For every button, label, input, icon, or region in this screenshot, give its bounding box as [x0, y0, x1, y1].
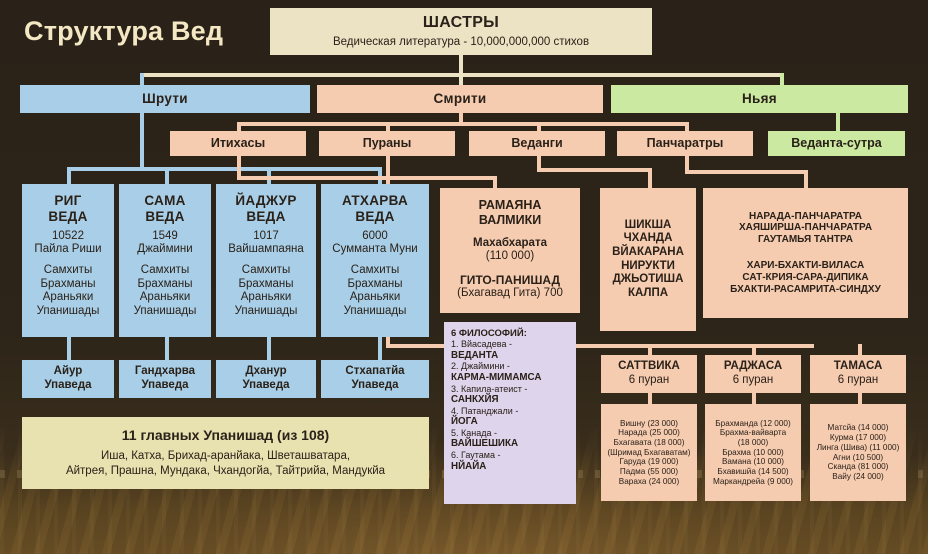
philosophy-author-4: 5. Канада -: [451, 428, 576, 439]
mahabharata-label: Махабхарата: [473, 237, 547, 251]
veda-atharva-sage: Сумманта Муни: [332, 243, 417, 257]
sattvika-purana-0: Вишну (23 000): [620, 419, 678, 429]
rajasa-purana-6: Маркандрейа (9 000): [713, 477, 793, 487]
node-vedanga-limbs[interactable]: ШИКША ЧХАНДА ВЙАКАРАНА НИРУКТИ ДЖЬОТИША …: [600, 188, 696, 331]
upaveda-dhanur-line2: Упаведа: [242, 379, 289, 393]
node-shastry[interactable]: ШАСТРЫ Ведическая литература - 10,000,00…: [270, 8, 652, 55]
philosophy-author-2: 3. Капила-атеист -: [451, 384, 576, 395]
connector-nyaya-to-vedanta-sutra: [836, 113, 840, 132]
pancharatra-g1-1: ХАЯШИРША-ПАНЧАРАТРА: [739, 222, 872, 234]
veda-sama-verses: 1549: [152, 230, 178, 244]
veda-yajur-name-line1: ЙАДЖУР: [235, 193, 296, 209]
veda-yajur-verses: 1017: [253, 230, 279, 244]
sattvika-purana-6: Вараха (24 000): [619, 477, 679, 487]
veda-atharva-part-0: Самхиты: [351, 264, 399, 278]
veda-yajur-part-2: Араньяки: [241, 291, 292, 305]
veda-yajur-sage: Вайшампаяна: [228, 243, 304, 257]
node-nyaya[interactable]: Ньяя: [611, 85, 908, 113]
node-shruti-label: Шрути: [142, 91, 188, 107]
veda-atharva-part-2: Араньяки: [350, 291, 401, 305]
node-veda-sama[interactable]: САМА ВЕДА 1549 Джаймини Самхиты Брахманы…: [119, 184, 211, 337]
rajasa-purana-3: Брахма (10 000): [722, 448, 784, 458]
connector-sama-to-upaveda: [165, 337, 169, 361]
connector-itihasa-elbow: [237, 176, 497, 180]
node-guna-rajasa[interactable]: РАДЖАСА 6 пуран: [705, 355, 801, 393]
node-vedanga-label: Веданги: [511, 136, 562, 151]
philosophy-school-3: ЙОГА: [451, 416, 576, 428]
vedanga-limb-1: ЧХАНДА: [624, 232, 673, 246]
veda-rig-part-1: Брахманы: [40, 278, 95, 292]
upaveda-ayur-line1: Айур: [54, 365, 83, 379]
guna-rajasa-name: РАДЖАСА: [724, 360, 782, 374]
veda-rig-name-line1: РИГ: [54, 193, 81, 209]
node-purana-label: Пураны: [363, 136, 412, 151]
connector-itihasa-to-ramayana: [493, 176, 497, 188]
veda-yajur-part-0: Самхиты: [242, 264, 290, 278]
veda-atharva-verses: 6000: [362, 230, 388, 244]
upanishads-heading: 11 главных Упанишад (из 108): [122, 427, 329, 444]
node-itihasa-label: Итихасы: [211, 136, 265, 151]
veda-sama-part-3: Упанишады: [134, 305, 197, 319]
pancharatra-g2-1: САТ-КРИЯ-САРА-ДИПИКА: [742, 272, 868, 284]
page-title: Структура Вед: [24, 16, 223, 47]
sattvika-purana-3: (Шримад Бхагаватам): [607, 448, 690, 458]
connector-to-rigveda: [67, 167, 71, 185]
connector-vedas-bus: [67, 167, 382, 171]
tamasa-purana-3: Агни (10 500): [833, 453, 883, 463]
node-veda-rig[interactable]: РИГ ВЕДА 10522 Пайла Риши Самхиты Брахма…: [22, 184, 114, 337]
connector-rig-to-upaveda: [67, 337, 71, 361]
vedanga-limb-0: ШИКША: [625, 219, 672, 233]
philosophy-school-1: КАРМА-МИМАМСА: [451, 372, 576, 384]
node-upanishads[interactable]: 11 главных Упанишад (из 108) Иша, Катха,…: [22, 417, 429, 489]
philosophy-author-5: 6. Гаутама -: [451, 450, 576, 461]
node-sattvika-puranas[interactable]: Вишну (23 000) Нарада (25 000) Бхагавата…: [601, 404, 697, 501]
upaveda-gandharva-line2: Упаведа: [141, 379, 188, 393]
node-upaveda-sthapatya[interactable]: Стхапатйа Упаведа: [321, 360, 429, 398]
upaveda-gandharva-line1: Гандхарва: [135, 365, 195, 379]
node-upaveda-ayur[interactable]: Айур Упаведа: [22, 360, 114, 398]
gita-title: ГИТО-ПАНИШАД: [460, 273, 560, 287]
node-pancharatra[interactable]: Панчаратры: [617, 131, 753, 156]
node-guna-sattvika[interactable]: САТТВИКА 6 пуран: [601, 355, 697, 393]
connector-smriti-bus: [237, 122, 689, 126]
veda-atharva-part-3: Упанишады: [344, 305, 407, 319]
connector-shruti-stem: [140, 113, 144, 171]
rajasa-purana-0: Брахманда (12 000): [715, 419, 790, 429]
sattvika-purana-4: Гаруда (19 000): [620, 457, 679, 467]
vedanga-limb-3: НИРУКТИ: [621, 260, 675, 274]
diagram-canvas: Структура Вед ШАСТРЫ Ведическая литерату…: [0, 0, 928, 554]
connector-to-samaveda: [165, 167, 169, 185]
philosophy-school-5: НЙАЙА: [451, 461, 576, 473]
veda-sama-part-1: Брахманы: [137, 278, 192, 292]
connector-pancharatra-to-narada: [804, 170, 808, 188]
guna-sattvika-name: САТТВИКА: [618, 360, 680, 374]
node-nyaya-label: Ньяя: [742, 91, 777, 107]
tamasa-purana-5: Вайу (24 000): [832, 472, 883, 482]
veda-yajur-part-3: Упанишады: [235, 305, 298, 319]
mahabharata-count: (110 000): [486, 250, 534, 264]
upanishads-line2: Айтрея, Прашна, Мундака, Чхандогйа, Тайт…: [66, 465, 385, 479]
veda-rig-part-2: Араньяки: [43, 291, 94, 305]
node-rajasa-puranas[interactable]: Брахманда (12 000) Брахма-вайварта (18 0…: [705, 404, 801, 501]
guna-sattvika-count: 6 пуран: [629, 374, 670, 388]
connector-pancharatra-elbow: [685, 170, 808, 174]
node-veda-yajur[interactable]: ЙАДЖУР ВЕДА 1017 Вайшампаяна Самхиты Бра…: [216, 184, 316, 337]
veda-rig-verses: 10522: [52, 230, 84, 244]
rajasa-purana-4: Вамана (10 000): [722, 457, 784, 467]
philosophy-school-2: САНКХЙЯ: [451, 394, 576, 406]
node-guna-tamasa[interactable]: ТАМАСА 6 пуран: [810, 355, 906, 393]
philosophy-school-0: ВЕДАНТА: [451, 350, 576, 362]
veda-sama-sage: Джаймини: [137, 243, 192, 257]
node-shruti[interactable]: Шрути: [20, 85, 310, 113]
tamasa-purana-4: Сканда (81 000): [828, 462, 889, 472]
veda-sama-part-2: Араньяки: [140, 291, 191, 305]
node-pancharatra-label: Панчаратры: [647, 136, 724, 151]
sattvika-purana-2: Бхагавата (18 000): [614, 438, 685, 448]
rajasa-purana-5: Бхавишйа (14 500): [717, 467, 788, 477]
node-ramayana[interactable]: РАМАЯНА ВАЛМИКИ Махабхарата (110 000) ГИ…: [440, 188, 580, 313]
veda-atharva-part-1: Брахманы: [347, 278, 402, 292]
vedanga-limb-4: ДЖЬОТИША: [613, 273, 684, 287]
node-shastry-subtitle: Ведическая литература - 10,000,000,000 с…: [333, 36, 589, 50]
node-upaveda-dhanur[interactable]: Дханур Упаведа: [216, 360, 316, 398]
ramayana-title-line1: РАМАЯНА: [479, 198, 542, 213]
veda-yajur-name-line2: ВЕДА: [246, 209, 285, 225]
ramayana-title-line2: ВАЛМИКИ: [479, 213, 541, 228]
sattvika-purana-1: Нарада (25 000): [618, 428, 680, 438]
upaveda-dhanur-line1: Дханур: [245, 365, 286, 379]
veda-rig-part-0: Самхиты: [44, 264, 92, 278]
pancharatra-g2-0: ХАРИ-БХАКТИ-ВИЛАСА: [747, 260, 864, 272]
philosophy-author-0: 1. Вйасадева -: [451, 339, 576, 350]
guna-rajasa-count: 6 пуран: [733, 374, 774, 388]
node-veda-atharva[interactable]: АТХАРВА ВЕДА 6000 Сумманта Муни Самхиты …: [321, 184, 429, 337]
veda-rig-sage: Пайла Риши: [34, 243, 101, 257]
philosophy-author-1: 2. Джаймини -: [451, 361, 576, 372]
pancharatra-g1-0: НАРАДА-ПАНЧАРАТРА: [749, 211, 862, 223]
node-vedanta-sutra[interactable]: Веданта-сутра: [768, 131, 905, 156]
rajasa-purana-2: (18 000): [738, 438, 769, 448]
veda-rig-name-line2: ВЕДА: [48, 209, 87, 225]
node-itihasa[interactable]: Итихасы: [170, 131, 306, 156]
node-upaveda-gandharva[interactable]: Гандхарва Упаведа: [119, 360, 211, 398]
upaveda-sthapatya-line1: Стхапатйа: [345, 365, 404, 379]
sattvika-purana-5: Падма (55 000): [620, 467, 678, 477]
node-vedanga[interactable]: Веданги: [469, 131, 605, 156]
upaveda-sthapatya-line2: Упаведа: [351, 379, 398, 393]
veda-atharva-name-line2: ВЕДА: [355, 209, 394, 225]
philosophies-heading: 6 ФИЛОСОФИЙ:: [451, 328, 576, 339]
node-vedanta-sutra-label: Веданта-сутра: [791, 136, 881, 151]
node-pancharatra-texts[interactable]: НАРАДА-ПАНЧАРАТРА ХАЯШИРША-ПАНЧАРАТРА ГА…: [703, 188, 908, 318]
connector-yajur-to-upaveda: [267, 337, 271, 361]
node-purana[interactable]: Пураны: [319, 131, 455, 156]
guna-tamasa-name: ТАМАСА: [834, 360, 883, 374]
upaveda-ayur-line2: Упаведа: [44, 379, 91, 393]
pancharatra-g2-2: БХАКТИ-РАСАМРИТА-СИНДХУ: [730, 284, 881, 296]
tamasa-purana-1: Курма (17 000): [830, 433, 886, 443]
upanishads-line1: Иша, Катха, Брихад-аранйака, Шветашватар…: [101, 450, 350, 464]
philosophy-author-3: 4. Патанджали -: [451, 406, 576, 417]
veda-yajur-part-1: Брахманы: [238, 278, 293, 292]
pancharatra-g1-2: ГАУТАМЬЯ ТАНТРА: [758, 234, 853, 246]
connector-vedanga-to-shiksha: [648, 168, 652, 188]
veda-sama-name-line1: САМА: [144, 193, 185, 209]
rajasa-purana-1: Брахма-вайварта: [720, 428, 786, 438]
veda-atharva-name-line1: АТХАРВА: [342, 193, 408, 209]
node-tamasa-puranas[interactable]: Матсйа (14 000) Курма (17 000) Линга (Ши…: [810, 404, 906, 501]
node-shastry-title: ШАСТРЫ: [423, 14, 499, 33]
vedanga-limb-2: ВЙАКАРАНА: [612, 246, 684, 260]
veda-rig-part-3: Упанишады: [37, 305, 100, 319]
vedanga-limb-5: КАЛПА: [628, 287, 668, 301]
guna-tamasa-count: 6 пуран: [838, 374, 879, 388]
philosophy-school-4: ВАЙШЕШИКА: [451, 438, 576, 450]
node-philosophies[interactable]: 6 ФИЛОСОФИЙ: 1. Вйасадева - ВЕДАНТА 2. Д…: [444, 322, 576, 504]
connector-vedanga-elbow: [537, 168, 652, 172]
node-smriti[interactable]: Смрити: [317, 85, 603, 113]
tamasa-purana-0: Матсйа (14 000): [828, 423, 889, 433]
veda-sama-name-line2: ВЕДА: [145, 209, 184, 225]
tamasa-purana-2: Линга (Шива) (11 000): [817, 443, 900, 453]
node-smriti-label: Смрити: [434, 91, 487, 107]
veda-sama-part-0: Самхиты: [141, 264, 189, 278]
connector-atharva-to-upaveda: [378, 337, 382, 361]
gita-subtitle: (Бхагавад Гита) 700: [457, 287, 563, 301]
